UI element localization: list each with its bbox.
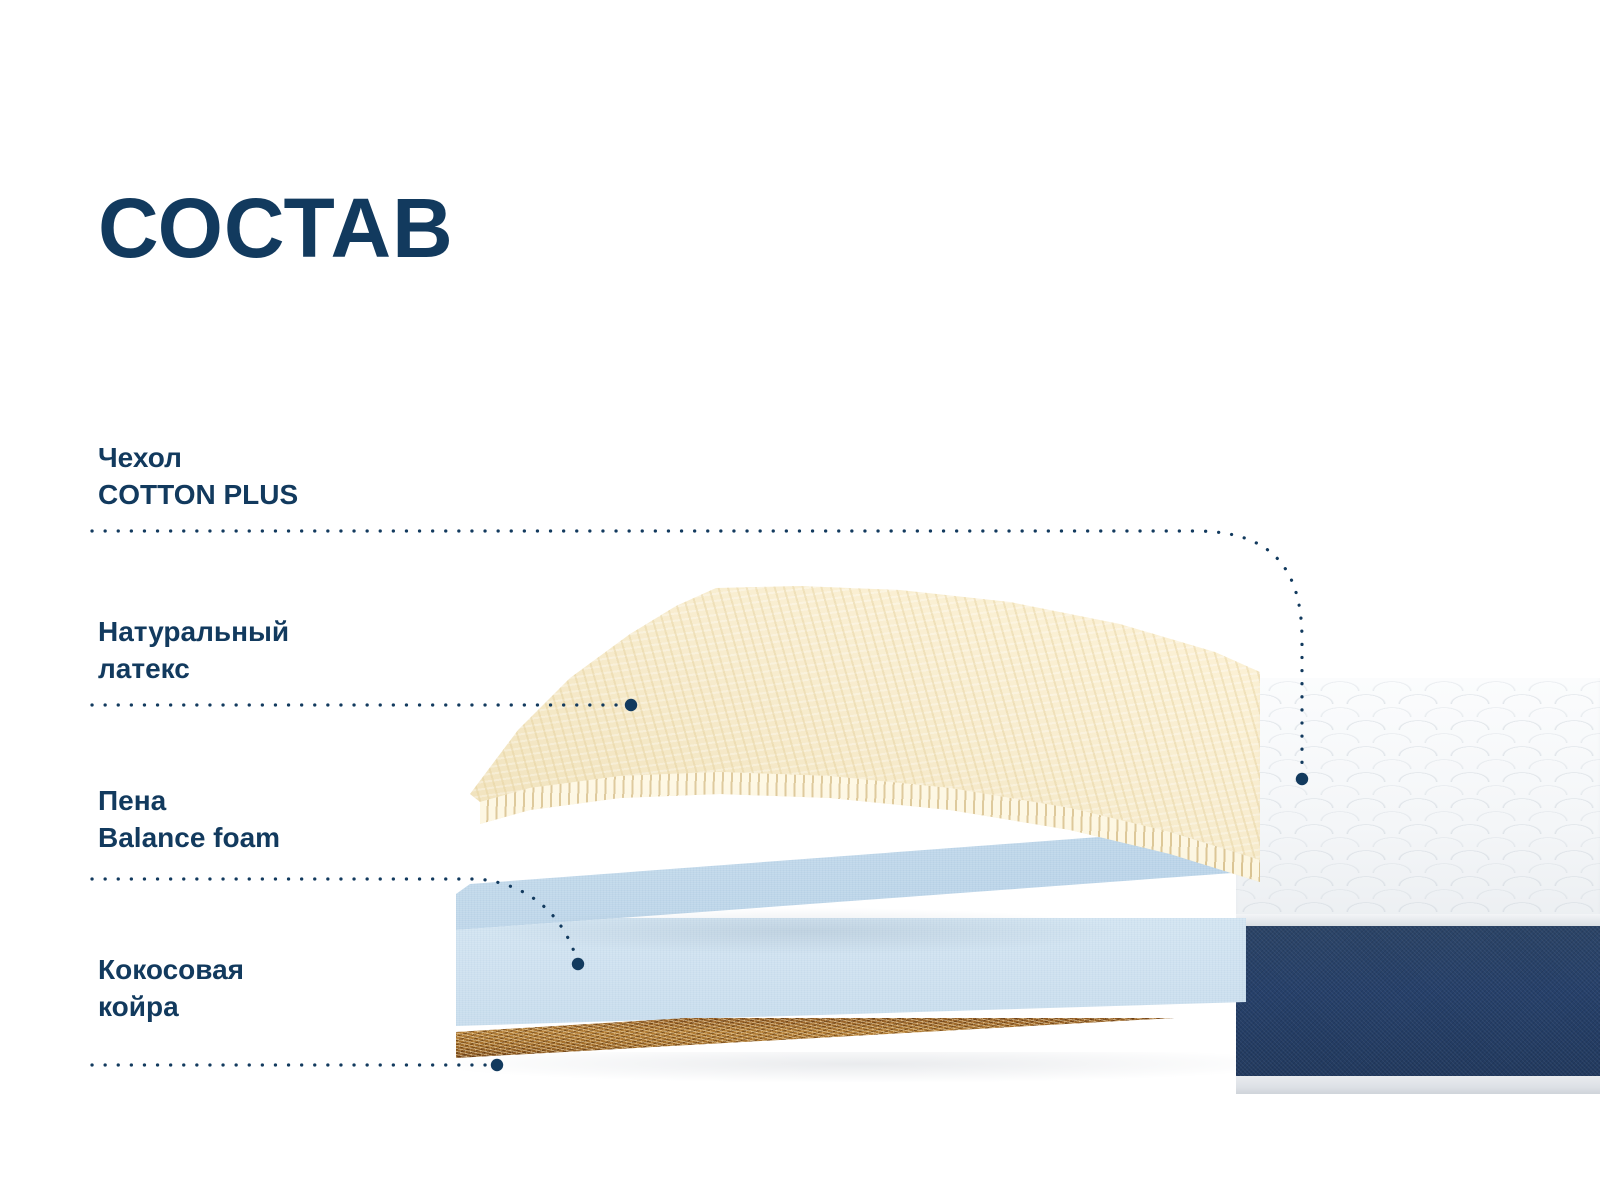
mattress-base: DIMAX ТВОЙ ЗДОРОВЫЙ СОН [1236, 652, 1600, 1100]
layer-label-coir-line2: койра [98, 989, 244, 1026]
layer-label-latex-line2: латекс [98, 651, 289, 688]
natural-latex-sheet [470, 580, 1260, 940]
cover-quilted-top-surface [1236, 678, 1600, 920]
coconut-coir-layer [456, 1018, 1246, 1058]
page-title: СОСТАВ [98, 186, 454, 270]
latex-top-surface [470, 580, 1260, 900]
mattress-side-panel: DIMAX ТВОЙ ЗДОРОВЫЙ СОН [1236, 926, 1600, 1076]
layer-label-foam-line2: Balance foam [98, 820, 280, 857]
layer-label-cover-line1: Чехол [98, 440, 298, 477]
layer-label-latex: Натуральный латекс [98, 614, 289, 688]
composition-infographic: СОСТАВ DIMAX ТВОЙ ЗДОРОВЫЙ СОН Чехол COT… [0, 0, 1600, 1200]
layer-label-coir-line1: Кокосовая [98, 952, 244, 989]
layer-label-foam: Пена Balance foam [98, 783, 280, 857]
layer-label-latex-line1: Натуральный [98, 614, 289, 651]
layer-label-cover-line2: COTTON PLUS [98, 477, 298, 514]
layer-label-cover: Чехол COTTON PLUS [98, 440, 298, 514]
layer-label-coir: Кокосовая койра [98, 952, 244, 1026]
layer-label-foam-line1: Пена [98, 783, 280, 820]
cover-bottom-piping [1236, 1076, 1600, 1094]
